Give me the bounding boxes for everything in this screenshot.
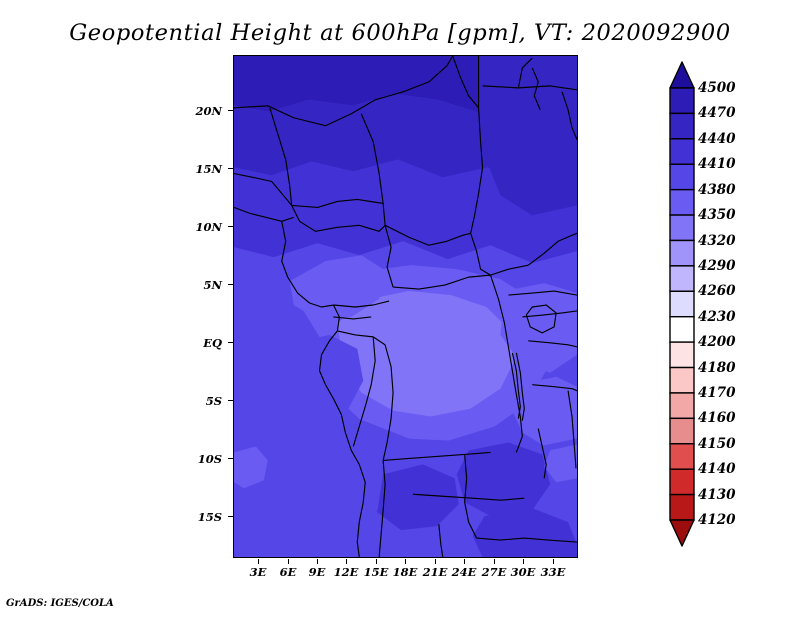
tick-lon-6E <box>288 559 289 564</box>
tick-lon-9E <box>317 559 318 564</box>
lat-label-15S: 15S <box>178 510 222 524</box>
colorbar-seg-4140-4150 <box>670 444 694 469</box>
tick-lon-24E <box>464 559 465 564</box>
lat-label-10N: 10N <box>178 220 222 234</box>
colorbar-label-4380: 4380 <box>698 182 736 198</box>
colorbar-seg-4120-4130 <box>670 495 694 520</box>
colorbar-label-4150: 4150 <box>698 436 736 452</box>
colorbar-seg-4260-4290 <box>670 266 694 291</box>
colorbar-seg-4410-4440 <box>670 139 694 164</box>
colorbar-label-4320: 4320 <box>698 233 736 249</box>
colorbar-seg-4470-4500 <box>670 88 694 113</box>
colorbar-seg-4160-4170 <box>670 393 694 418</box>
colorbar-label-4260: 4260 <box>698 283 736 299</box>
colorbar-label-4470: 4470 <box>698 105 736 121</box>
tick-lon-30E <box>523 559 524 564</box>
tick-lat-15S <box>228 516 233 517</box>
colorbar-seg-4150-4160 <box>670 418 694 443</box>
colorbar-label-4230: 4230 <box>698 309 736 325</box>
colorbar-label-4180: 4180 <box>698 360 736 376</box>
lat-label-5N: 5N <box>178 278 222 292</box>
geopotential-height-heatmap <box>234 56 577 557</box>
colorbar-arrow-bottom <box>670 520 694 546</box>
lat-label-20N: 20N <box>178 104 222 118</box>
tick-lat-5S <box>228 400 233 401</box>
tick-lon-18E <box>405 559 406 564</box>
colorbar-seg-4350-4380 <box>670 190 694 215</box>
colorbar-swatches <box>670 62 694 546</box>
tick-lat-10S <box>228 458 233 459</box>
colorbar-seg-4170-4180 <box>670 368 694 393</box>
tick-lat-15N <box>228 168 233 169</box>
tick-lon-12E <box>346 559 347 564</box>
colorbar-label-4130: 4130 <box>698 487 736 503</box>
tick-lat-10N <box>228 226 233 227</box>
colorbar-label-4350: 4350 <box>698 207 736 223</box>
colorbar-label-4290: 4290 <box>698 258 736 274</box>
colorbar-label-4160: 4160 <box>698 410 736 426</box>
colorbar-seg-4380-4410 <box>670 164 694 189</box>
colorbar-seg-4320-4350 <box>670 215 694 240</box>
colorbar-seg-4130-4140 <box>670 469 694 494</box>
lat-label-5S: 5S <box>178 394 222 408</box>
tick-lon-21E <box>435 559 436 564</box>
tick-lon-33E <box>553 559 554 564</box>
map-plot-area <box>233 55 578 558</box>
colorbar-seg-4290-4320 <box>670 240 694 265</box>
colorbar-label-4200: 4200 <box>698 334 736 350</box>
colorbar-label-4500: 4500 <box>698 80 736 96</box>
colorbar-seg-4200-4230 <box>670 317 694 342</box>
lat-label-15N: 15N <box>178 162 222 176</box>
colorbar-label-4140: 4140 <box>698 461 736 477</box>
colorbar-label-4410: 4410 <box>698 156 736 172</box>
page-title: Geopotential Height at 600hPa [gpm], VT:… <box>0 20 800 46</box>
lon-label-33E: 33E <box>533 565 573 579</box>
tick-lon-27E <box>494 559 495 564</box>
tick-lon-3E <box>258 559 259 564</box>
colorbar-label-4170: 4170 <box>698 385 736 401</box>
tick-lat-20N <box>228 110 233 111</box>
colorbar-seg-4440-4470 <box>670 113 694 138</box>
lat-label-10S: 10S <box>178 452 222 466</box>
colorbar-seg-4180-4200 <box>670 342 694 367</box>
colorbar: 4500 4470 4440 4410 4380 4350 4320 4290 … <box>670 62 694 546</box>
colorbar-label-4120: 4120 <box>698 512 736 528</box>
credit-text: GrADS: IGES/COLA <box>6 598 114 609</box>
colorbar-label-4440: 4440 <box>698 131 736 147</box>
lat-label-EQ: EQ <box>178 336 222 350</box>
tick-lat-EQ <box>228 342 233 343</box>
colorbar-arrow-top <box>670 62 694 88</box>
tick-lat-5N <box>228 284 233 285</box>
tick-lon-15E <box>376 559 377 564</box>
colorbar-seg-4230-4260 <box>670 291 694 316</box>
